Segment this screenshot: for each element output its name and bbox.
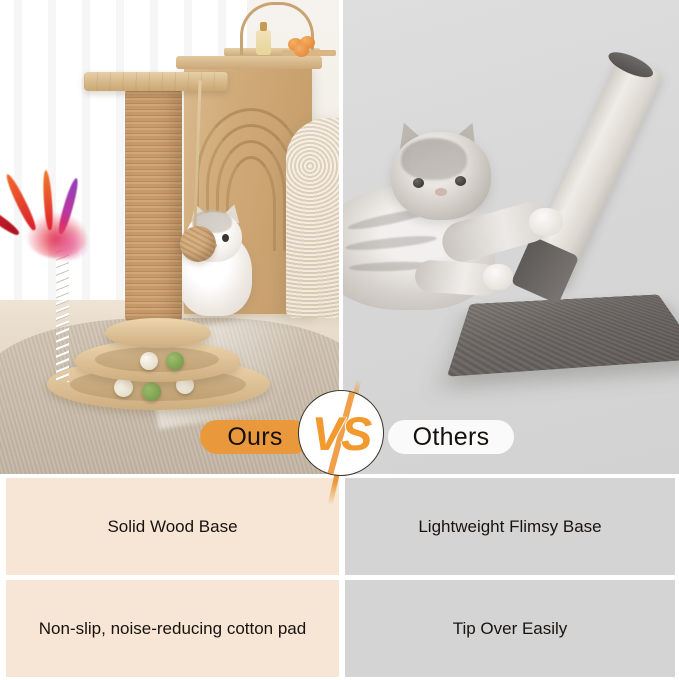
comparison-row-2: Non-slip, noise-reducing cotton pad Tip …	[0, 580, 679, 677]
scene-studio-grey	[343, 0, 679, 474]
vs-badge: VS	[298, 390, 384, 476]
hanging-sisal-ball	[180, 226, 216, 262]
toy-spring	[56, 250, 69, 382]
wood-base-tier-top	[105, 318, 211, 348]
comparison-table: Solid Wood Base Lightweight Flimsy Base …	[0, 478, 679, 680]
scene-living-room	[0, 0, 339, 474]
cell-others-1: Lightweight Flimsy Base	[345, 478, 675, 575]
feather-plume-pink	[44, 222, 90, 260]
cell-ours-1: Solid Wood Base	[6, 478, 339, 575]
label-ours-text: Ours	[227, 423, 282, 452]
label-others: Others	[388, 420, 514, 454]
label-ours: Ours	[200, 420, 310, 454]
product-photo-others	[343, 0, 679, 474]
cell-ours-2: Non-slip, noise-reducing cotton pad	[6, 580, 339, 677]
cell-others-2: Tip Over Easily	[345, 580, 675, 677]
decor-bottle	[256, 30, 271, 55]
decor-tray	[282, 50, 336, 56]
grey-cat-paw-2	[483, 264, 513, 290]
track-ball-green-2	[166, 352, 184, 370]
comparison-infographic: Ours Others VS Solid Wood Base Lightweig…	[0, 0, 679, 680]
hero-image-band: Ours Others VS	[0, 0, 679, 474]
vs-badge-text: VS	[312, 410, 371, 457]
product-photo-ours	[0, 0, 339, 474]
kitten-eye-right	[222, 234, 229, 242]
decor-bottle-cap	[260, 22, 267, 31]
boucle-armchair	[286, 118, 339, 318]
grey-cat-nose	[435, 188, 447, 196]
sisal-scratching-post	[125, 88, 182, 322]
decor-fruit-3	[294, 44, 309, 57]
cabinet-top	[176, 56, 322, 69]
grey-cat-eye-left	[413, 178, 424, 188]
post-platform-grain	[84, 72, 228, 91]
grey-cat-eye-right	[455, 176, 466, 186]
flimsy-square-base	[447, 294, 679, 376]
grey-cat-face-mask	[401, 138, 467, 180]
grey-cat-paw	[529, 208, 563, 236]
label-others-text: Others	[413, 423, 490, 452]
track-ball-green-1	[142, 382, 161, 401]
track-ball-white-3	[140, 352, 158, 370]
base-texture	[447, 294, 679, 376]
